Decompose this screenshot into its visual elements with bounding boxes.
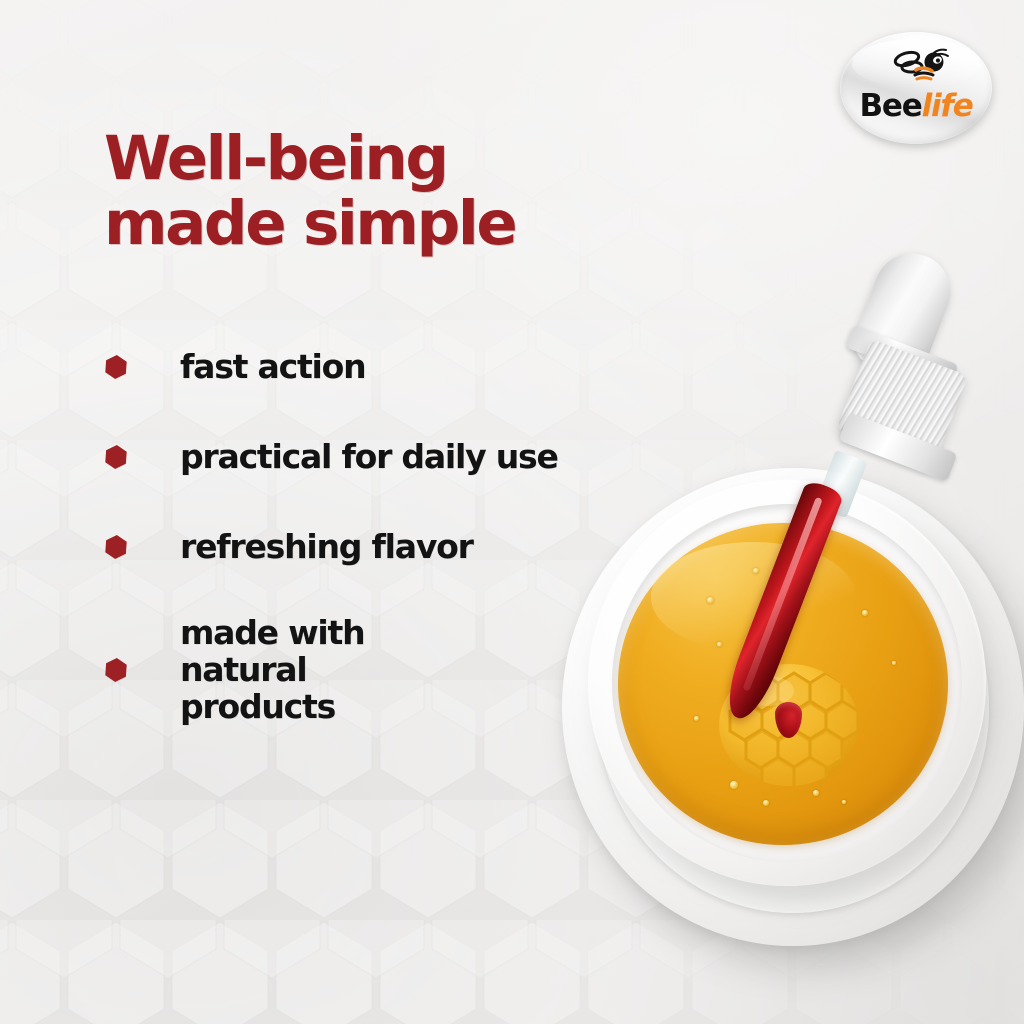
- beelife-logo[interactable]: Beelife: [840, 32, 992, 144]
- poster-canvas: Beelife Well-being made simple fast acti…: [0, 0, 1024, 1024]
- page-title: Well-being made simple: [104, 126, 624, 257]
- hexagon-bullet-icon: [103, 658, 129, 684]
- headline-line-1: Well-being: [104, 123, 447, 194]
- logo-wordmark: Beelife: [859, 91, 972, 122]
- list-item: made with natural products: [104, 615, 434, 726]
- list-item: fast action: [104, 345, 574, 389]
- hexagon-bullet-icon: [103, 534, 129, 560]
- feature-label: made with natural products: [180, 615, 434, 726]
- hexagon-bullet-icon: [103, 444, 129, 470]
- feature-label: practical for daily use: [180, 439, 558, 476]
- list-item: refreshing flavor: [104, 525, 574, 569]
- logo-word-life: life: [922, 88, 973, 124]
- logo-word-bee: Bee: [859, 88, 921, 124]
- bee-icon: [890, 48, 952, 84]
- headline-line-2: made simple: [104, 191, 624, 256]
- hexagon-bullet-icon: [103, 354, 129, 380]
- feature-list: fast action practical for daily use refr…: [104, 345, 574, 726]
- feature-label: fast action: [180, 349, 365, 386]
- feature-label: refreshing flavor: [180, 529, 473, 566]
- list-item: practical for daily use: [104, 435, 574, 479]
